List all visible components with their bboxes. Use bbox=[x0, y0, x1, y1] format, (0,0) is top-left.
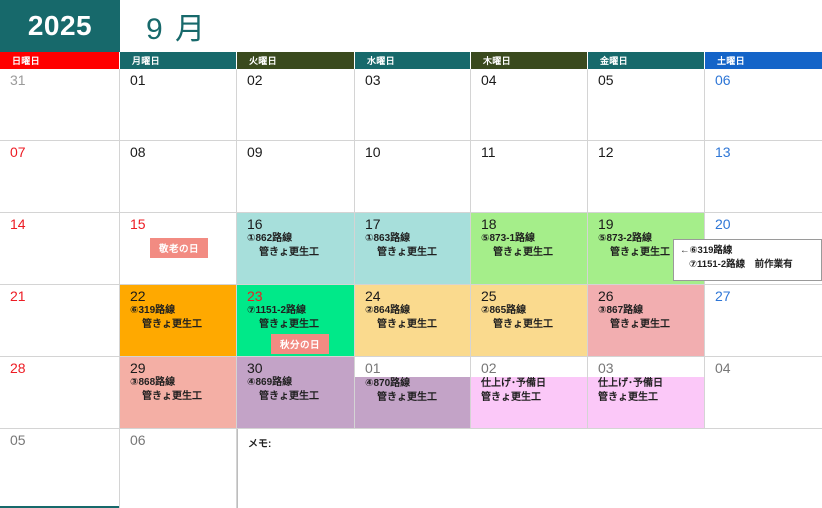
callout-line-1: ←⑥319路線 bbox=[680, 244, 817, 258]
day-number: 02 bbox=[237, 72, 354, 88]
day-number: 12 bbox=[588, 144, 704, 160]
day-cell-05[interactable]: 05 bbox=[0, 429, 120, 508]
event-line: ④869路線 bbox=[237, 376, 354, 390]
day-number: 20 bbox=[705, 216, 822, 232]
day-cell-14[interactable]: 14 bbox=[0, 213, 120, 285]
weekday-header-friday: 金曜日 bbox=[588, 52, 705, 69]
day-number: 04 bbox=[705, 360, 822, 376]
day-cell-27[interactable]: 27 bbox=[705, 285, 822, 357]
event-line: 管きょ更生工 bbox=[471, 246, 587, 260]
day-number: 09 bbox=[237, 144, 354, 160]
event-line: ③867路線 bbox=[588, 304, 704, 318]
event-line: 仕上げ･予備日 bbox=[471, 377, 587, 391]
event-line: ②864路線 bbox=[355, 304, 470, 318]
day-number: 03 bbox=[355, 72, 470, 88]
day-number: 05 bbox=[0, 432, 119, 448]
day-number: 02 bbox=[471, 360, 587, 376]
day-cell-01[interactable]: 01④870路線管きょ更生工 bbox=[355, 357, 471, 429]
day-number: 11 bbox=[471, 144, 587, 160]
day-number: 01 bbox=[120, 72, 236, 88]
day-cell-07[interactable]: 07 bbox=[0, 141, 120, 213]
day-cell-03[interactable]: 03 bbox=[355, 69, 471, 141]
day-number: 10 bbox=[355, 144, 470, 160]
event-line: 管きょ更生工 bbox=[237, 246, 354, 260]
day-number: 29 bbox=[120, 360, 236, 376]
day-cell-21[interactable]: 21 bbox=[0, 285, 120, 357]
day-number: 31 bbox=[0, 72, 119, 88]
event-line: 管きょ更生工 bbox=[471, 318, 587, 332]
day-cell-18[interactable]: 18⑤873-1路線管きょ更生工 bbox=[471, 213, 588, 285]
event-line: ③868路線 bbox=[120, 376, 236, 390]
calendar-title-row: 2025 9 月 bbox=[0, 0, 822, 52]
day-cell-24[interactable]: 24②864路線管きょ更生工 bbox=[355, 285, 471, 357]
event-line: 管きょ更生工 bbox=[471, 391, 587, 405]
day-cell-01[interactable]: 01 bbox=[120, 69, 237, 141]
day-cell-13[interactable]: 13 bbox=[705, 141, 822, 213]
day-number: 27 bbox=[705, 288, 822, 304]
event-line: 管きょ更生工 bbox=[120, 318, 236, 332]
event-line: 管きょ更生工 bbox=[588, 318, 704, 332]
day-number: 07 bbox=[0, 144, 119, 160]
day-number: 15 bbox=[120, 216, 236, 232]
year-badge: 2025 bbox=[0, 0, 120, 52]
memo-label: メモ: bbox=[248, 435, 822, 450]
event-line: ①863路線 bbox=[355, 232, 470, 246]
callout-note: ←⑥319路線 ⑦1151-2路線 前作業有 bbox=[673, 239, 822, 281]
day-cell-30[interactable]: 30④869路線管きょ更生工 bbox=[237, 357, 355, 429]
day-cell-08[interactable]: 08 bbox=[120, 141, 237, 213]
event-line: 管きょ更生工 bbox=[237, 390, 354, 404]
weekday-header-saturday: 土曜日 bbox=[705, 52, 822, 69]
event-line: 仕上げ･予備日 bbox=[588, 377, 704, 391]
day-number: 01 bbox=[355, 360, 470, 376]
event-line: 管きょ更生工 bbox=[588, 391, 704, 405]
weekday-header-tuesday: 火曜日 bbox=[237, 52, 355, 69]
day-number: 06 bbox=[120, 432, 236, 448]
month-label: 9 月 bbox=[146, 4, 207, 48]
month-container: 9 月 bbox=[120, 0, 822, 52]
day-cell-15[interactable]: 15敬老の日 bbox=[120, 213, 237, 285]
day-cell-05[interactable]: 05 bbox=[588, 69, 705, 141]
day-number: 19 bbox=[588, 216, 704, 232]
day-cell-03[interactable]: 03仕上げ･予備日管きょ更生工 bbox=[588, 357, 705, 429]
day-cell-06[interactable]: 06 bbox=[705, 69, 822, 141]
day-number: 04 bbox=[471, 72, 587, 88]
day-cell-16[interactable]: 16①862路線管きょ更生工 bbox=[237, 213, 355, 285]
day-cell-31[interactable]: 31 bbox=[0, 69, 120, 141]
day-cell-04[interactable]: 04 bbox=[471, 69, 588, 141]
day-number: 24 bbox=[355, 288, 470, 304]
day-cell-02[interactable]: 02仕上げ･予備日管きょ更生工 bbox=[471, 357, 588, 429]
calendar-page: 2025 9 月 日曜日月曜日火曜日水曜日木曜日金曜日土曜日 310102030… bbox=[0, 0, 822, 508]
day-number: 17 bbox=[355, 216, 470, 232]
event-line: 管きょ更生工 bbox=[237, 318, 354, 332]
year-label: 2025 bbox=[28, 10, 92, 42]
event-line: 管きょ更生工 bbox=[120, 390, 236, 404]
holiday-badge: 秋分の日 bbox=[271, 334, 329, 354]
weekday-header-sunday: 日曜日 bbox=[0, 52, 120, 69]
event-line: ⑥319路線 bbox=[120, 304, 236, 318]
weekday-header-thursday: 木曜日 bbox=[471, 52, 588, 69]
day-cell-04[interactable]: 04 bbox=[705, 357, 822, 429]
day-cell-26[interactable]: 26③867路線管きょ更生工 bbox=[588, 285, 705, 357]
weekday-header-row: 日曜日月曜日火曜日水曜日木曜日金曜日土曜日 bbox=[0, 52, 822, 69]
event-line: 管きょ更生工 bbox=[355, 246, 470, 260]
day-number: 21 bbox=[0, 288, 119, 304]
event-line: ⑦1151-2路線 bbox=[237, 304, 354, 318]
day-cell-12[interactable]: 12 bbox=[588, 141, 705, 213]
day-number: 18 bbox=[471, 216, 587, 232]
day-number: 13 bbox=[705, 144, 822, 160]
day-cell-17[interactable]: 17①863路線管きょ更生工 bbox=[355, 213, 471, 285]
weekday-header-monday: 月曜日 bbox=[120, 52, 237, 69]
day-cell-09[interactable]: 09 bbox=[237, 141, 355, 213]
memo-area[interactable]: メモ: bbox=[237, 429, 822, 508]
day-number: 28 bbox=[0, 360, 119, 376]
day-cell-06[interactable]: 06 bbox=[120, 429, 237, 508]
event-line: ④870路線 bbox=[355, 377, 470, 391]
event-line: 管きょ更生工 bbox=[355, 318, 470, 332]
day-number: 14 bbox=[0, 216, 119, 232]
event-line: 管きょ更生工 bbox=[355, 391, 470, 405]
day-cell-23[interactable]: 23⑦1151-2路線管きょ更生工秋分の日 bbox=[237, 285, 355, 357]
event-line: ①862路線 bbox=[237, 232, 354, 246]
day-number: 08 bbox=[120, 144, 236, 160]
day-number: 30 bbox=[237, 360, 354, 376]
callout-line-2: ⑦1151-2路線 前作業有 bbox=[680, 258, 817, 272]
day-cell-10[interactable]: 10 bbox=[355, 141, 471, 213]
day-cell-28[interactable]: 28 bbox=[0, 357, 120, 429]
holiday-badge: 敬老の日 bbox=[150, 238, 208, 258]
weekday-header-wednesday: 水曜日 bbox=[355, 52, 471, 69]
day-number: 22 bbox=[120, 288, 236, 304]
day-cell-25[interactable]: 25②865路線管きょ更生工 bbox=[471, 285, 588, 357]
day-number: 05 bbox=[588, 72, 704, 88]
calendar-grid: 31010203040506070809101112131415敬老の日16①8… bbox=[0, 69, 822, 508]
day-number: 03 bbox=[588, 360, 704, 376]
day-number: 23 bbox=[237, 288, 354, 304]
day-cell-29[interactable]: 29③868路線管きょ更生工 bbox=[120, 357, 237, 429]
day-cell-02[interactable]: 02 bbox=[237, 69, 355, 141]
day-number: 06 bbox=[705, 72, 822, 88]
day-number: 25 bbox=[471, 288, 587, 304]
event-line: ⑤873-1路線 bbox=[471, 232, 587, 246]
event-line: ②865路線 bbox=[471, 304, 587, 318]
day-number: 16 bbox=[237, 216, 354, 232]
day-cell-11[interactable]: 11 bbox=[471, 141, 588, 213]
day-cell-22[interactable]: 22⑥319路線管きょ更生工 bbox=[120, 285, 237, 357]
day-number: 26 bbox=[588, 288, 704, 304]
